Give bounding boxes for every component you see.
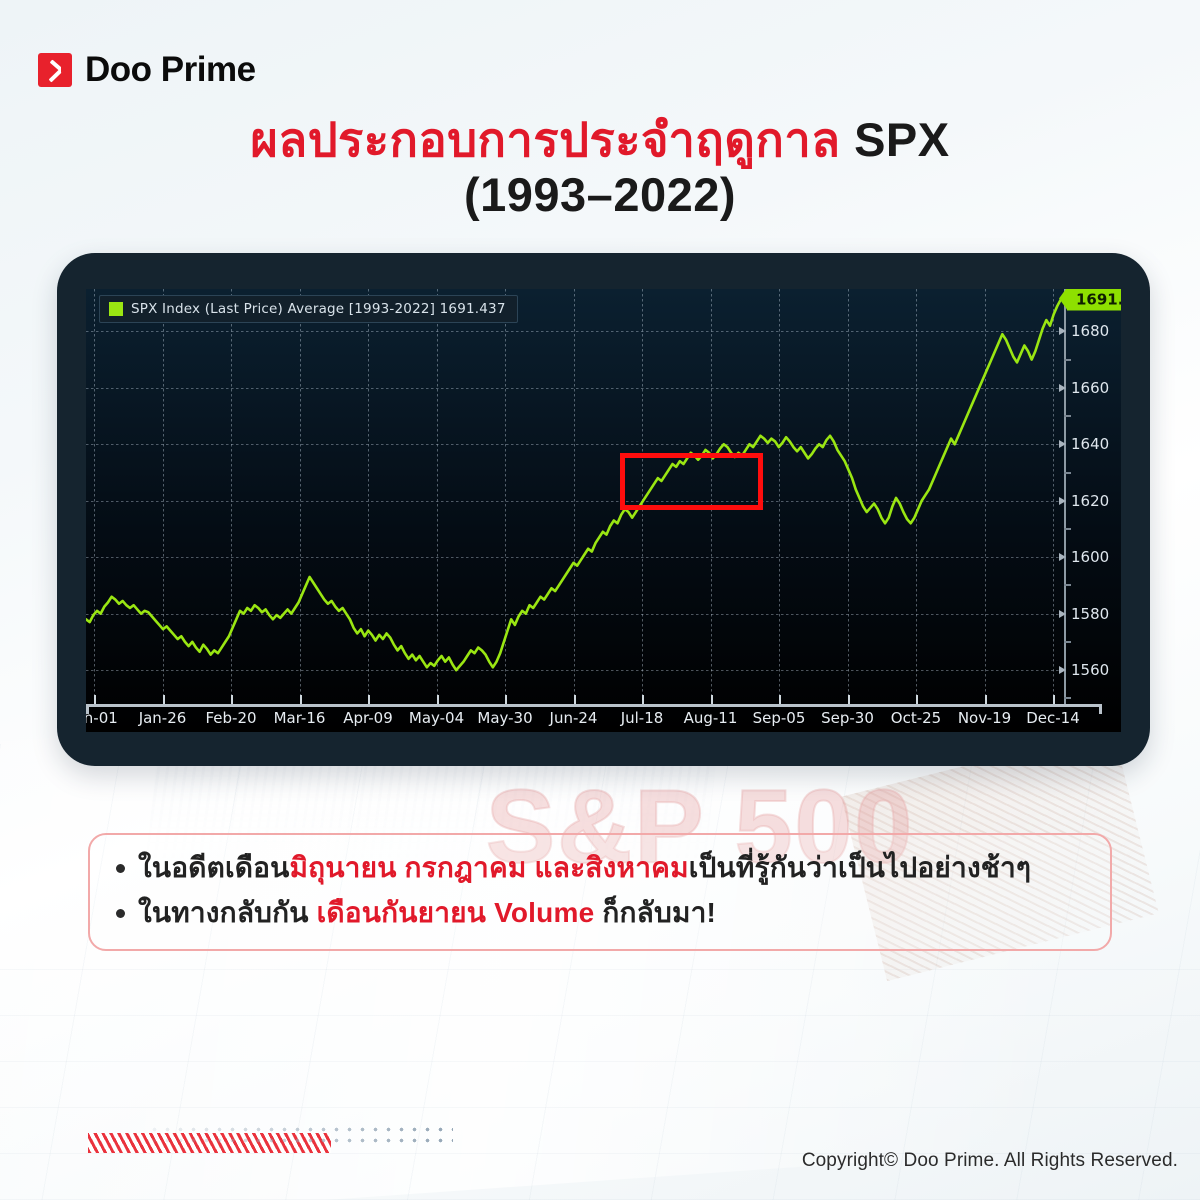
time-axis-tick — [711, 695, 713, 704]
title-symbol: SPX — [854, 113, 950, 166]
takeaway-bullet: ในทางกลับกัน เดือนกันยายน Volume ก็กลับม… — [116, 894, 1110, 933]
decorative-dot-grid — [148, 1124, 453, 1146]
price-axis-minor-tick — [1064, 641, 1071, 643]
tick-arrow-icon — [1059, 666, 1066, 674]
time-axis-tick — [642, 695, 644, 704]
takeaway-text: ในทางกลับกัน เดือนกันยายน Volume ก็กลับม… — [138, 894, 716, 933]
time-axis-tick-label: Sep-30 — [821, 709, 874, 727]
time-axis-tick — [848, 695, 850, 704]
price-axis: 15601580160016201640166016801691.437 — [1061, 289, 1121, 704]
time-axis-tick — [94, 695, 96, 704]
time-axis-tick — [300, 695, 302, 704]
time-axis-tick — [368, 695, 370, 704]
time-axis-tick-label: Jun-24 — [550, 709, 598, 727]
time-axis-tick-label: Dec-14 — [1026, 709, 1080, 727]
price-axis-tick-label: 1620 — [1071, 492, 1109, 510]
tick-arrow-icon — [1059, 384, 1066, 392]
tick-arrow-icon — [1059, 610, 1066, 618]
price-axis-tick-label: 1680 — [1071, 322, 1109, 340]
price-axis-minor-tick — [1064, 472, 1071, 474]
price-axis-minor-tick — [1064, 415, 1071, 417]
price-axis-minor-tick — [1064, 584, 1071, 586]
tick-arrow-icon — [1059, 440, 1066, 448]
tick-arrow-icon — [1059, 553, 1066, 561]
time-axis-tick — [574, 695, 576, 704]
takeaway-text-segment: เดือนกันยายน Volume — [317, 897, 595, 928]
time-axis-tick-label: Oct-25 — [891, 709, 941, 727]
tick-arrow-icon — [1059, 497, 1066, 505]
price-axis-tick-label: 1580 — [1071, 605, 1109, 623]
time-axis-tick-label: Aug-11 — [684, 709, 738, 727]
takeaway-text-segment: เป็นที่รู้กันว่าเป็นไปอย่างช้าๆ — [689, 852, 1031, 883]
time-axis-tick — [505, 695, 507, 704]
title-years: (1993–2022) — [0, 167, 1200, 222]
chart-legend: SPX Index (Last Price) Average [1993-202… — [99, 295, 518, 323]
time-axis-tick-label: Jan-01 — [86, 709, 118, 727]
takeaway-bullet: ในอดีตเดือนมิถุนายน กรกฎาคม และสิงหาคมเป… — [116, 849, 1110, 888]
bullet-dot-icon — [116, 909, 125, 918]
spx-line-series — [86, 289, 1061, 704]
time-axis-tick-label: Sep-05 — [753, 709, 806, 727]
current-price-tag: 1691.437 — [1067, 289, 1121, 311]
price-axis-tick-label: 1660 — [1071, 379, 1109, 397]
title-thai: ผลประกอบการประจำฤดูกาล — [250, 113, 840, 166]
time-axis-tick-label: Apr-09 — [343, 709, 393, 727]
price-axis-minor-tick — [1064, 697, 1071, 699]
time-axis-tick-label: Nov-19 — [958, 709, 1011, 727]
time-axis-tick — [1053, 695, 1055, 704]
price-axis-minor-tick — [1064, 359, 1071, 361]
price-axis-tick-label: 1600 — [1071, 548, 1109, 566]
summer-highlight-rectangle — [620, 453, 763, 510]
time-axis-tick — [163, 695, 165, 704]
copyright-text: Copyright© Doo Prime. All Rights Reserve… — [802, 1150, 1178, 1172]
time-axis-tick — [985, 695, 987, 704]
price-axis-tick-label: 1640 — [1071, 435, 1109, 453]
time-axis-line — [86, 704, 1102, 707]
chart-canvas: SPX Index (Last Price) Average [1993-202… — [86, 289, 1121, 732]
time-axis-tick-label: May-30 — [477, 709, 532, 727]
chart-panel: SPX Index (Last Price) Average [1993-202… — [57, 253, 1150, 766]
time-axis-tick-label: Jan-26 — [139, 709, 187, 727]
price-axis-tick-label: 1560 — [1071, 661, 1109, 679]
takeaway-text-segment: มิถุนายน กรกฎาคม และสิงหาคม — [290, 852, 689, 883]
legend-color-swatch — [109, 302, 123, 316]
price-axis-minor-tick — [1064, 528, 1071, 530]
takeaway-text-segment: ก็กลับมา! — [594, 897, 716, 928]
brand-logo: Doo Prime — [38, 50, 256, 90]
plot-area — [86, 289, 1061, 704]
time-axis-tick-label: May-04 — [409, 709, 464, 727]
time-axis-tick — [437, 695, 439, 704]
time-axis-tick-label: Feb-20 — [205, 709, 256, 727]
page-title: ผลประกอบการประจำฤดูกาล SPX (1993–2022) — [0, 112, 1200, 223]
time-axis-tick — [916, 695, 918, 704]
takeaways-box: ในอดีตเดือนมิถุนายน กรกฎาคม และสิงหาคมเป… — [88, 833, 1112, 951]
doo-prime-mark-icon — [38, 53, 72, 87]
takeaway-text-segment: ในทางกลับกัน — [138, 897, 317, 928]
time-axis-tick-label: Jul-18 — [621, 709, 664, 727]
legend-label: SPX Index (Last Price) Average [1993-202… — [131, 301, 506, 317]
brand-name: Doo Prime — [85, 50, 256, 90]
tick-arrow-icon — [1059, 327, 1066, 335]
time-axis-tick — [779, 695, 781, 704]
time-axis-tick-label: Mar-16 — [274, 709, 326, 727]
bullet-dot-icon — [116, 864, 125, 873]
time-axis-tick — [231, 695, 233, 704]
takeaway-text: ในอดีตเดือนมิถุนายน กรกฎาคม และสิงหาคมเป… — [138, 849, 1031, 888]
time-axis-right-cap — [1099, 704, 1102, 714]
takeaway-text-segment: ในอดีตเดือน — [138, 852, 290, 883]
